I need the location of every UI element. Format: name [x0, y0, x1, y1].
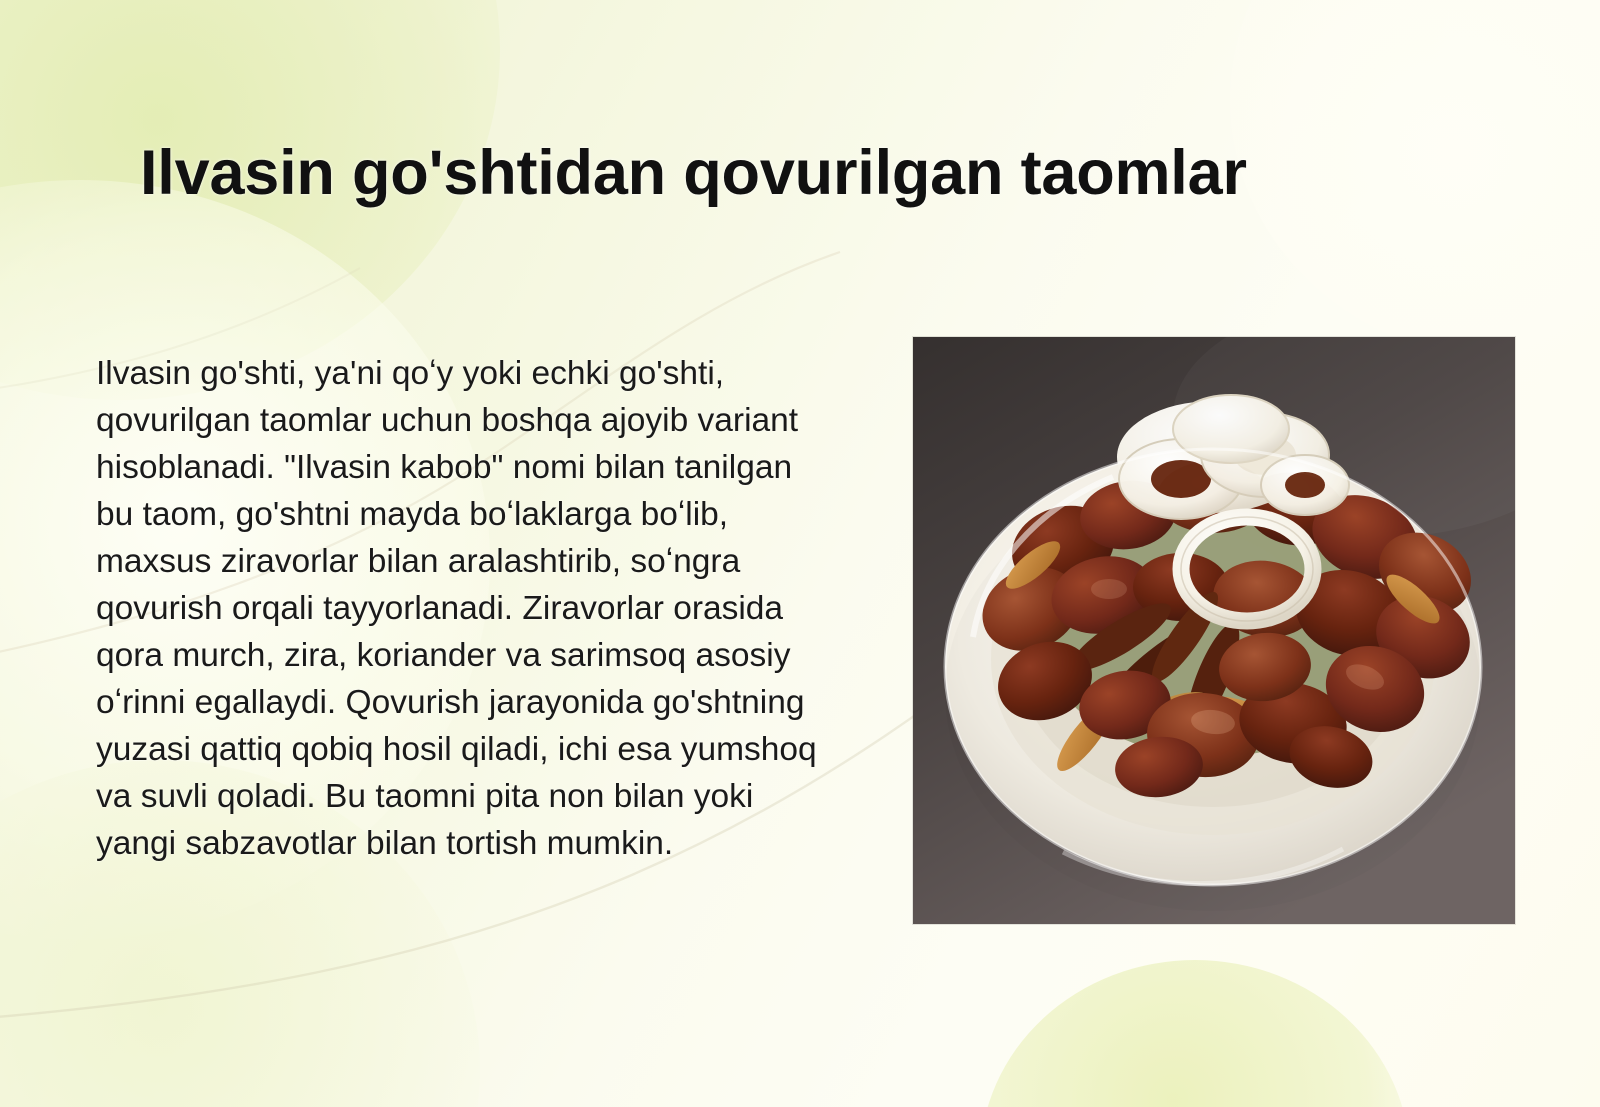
page-title: Ilvasin go'shtidan qovurilgan taomlar: [140, 138, 1460, 209]
fried-meat-plate-photo: [913, 337, 1515, 924]
slide-canvas: Ilvasin go'shtidan qovurilgan taomlar Il…: [0, 0, 1600, 1107]
photo-illustration: [913, 337, 1515, 924]
body-paragraph: Ilvasin go'shti, ya'ni qoʻy yoki echki g…: [96, 350, 838, 867]
